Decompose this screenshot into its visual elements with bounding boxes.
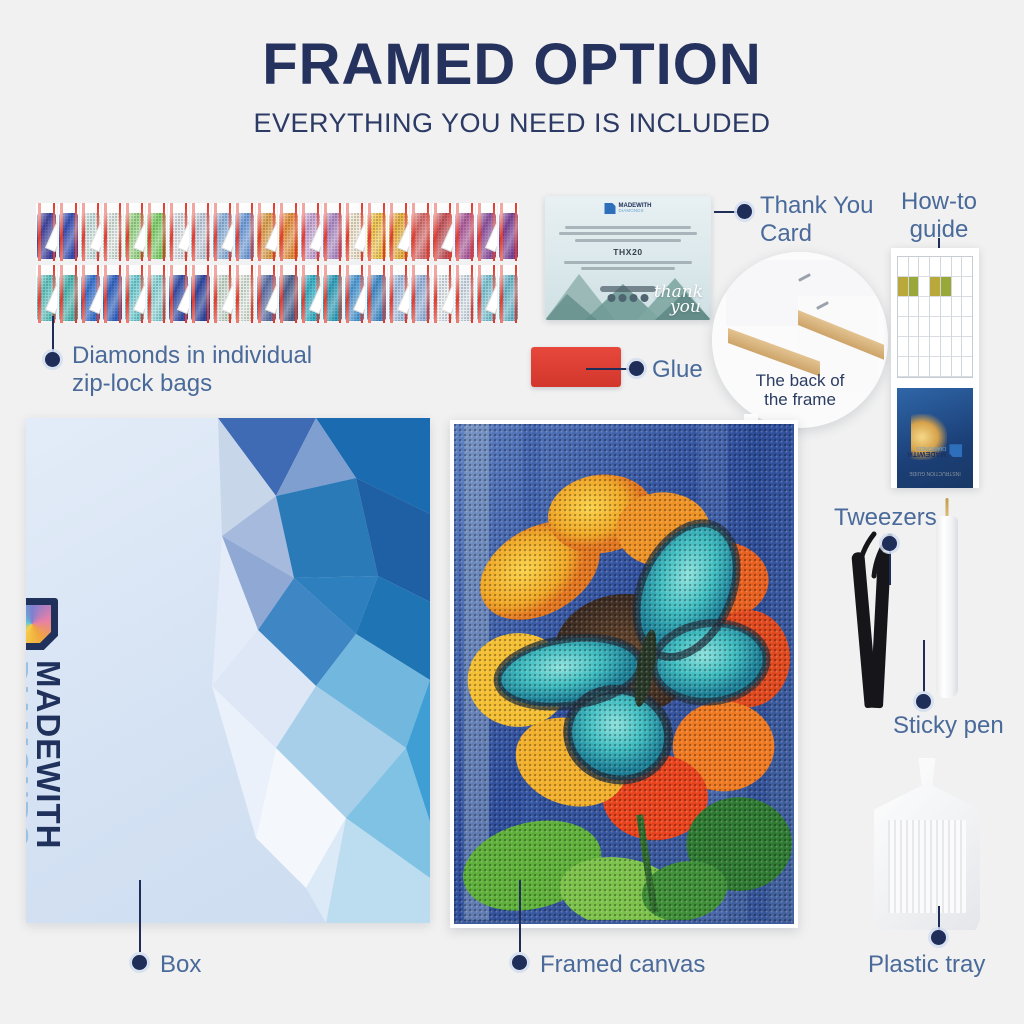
table-column xyxy=(930,257,941,377)
tweezers-dot xyxy=(882,536,897,551)
bag-sheen xyxy=(146,265,167,323)
tweezer-tips-icon xyxy=(852,530,912,580)
box-leader-line xyxy=(139,880,141,952)
bag-sheen xyxy=(80,203,101,261)
diamond-bag xyxy=(278,203,299,261)
diamond-bag xyxy=(168,203,189,261)
diamond-bag xyxy=(366,203,387,261)
callout-plastic-tray: Plastic tray xyxy=(868,951,985,979)
callout-thank-you-card: Thank You Card xyxy=(760,192,873,247)
bag-sheen xyxy=(168,265,189,323)
diamond-mark-icon xyxy=(26,598,58,650)
bag-sheen xyxy=(454,265,475,323)
callout-sticky-pen: Sticky pen xyxy=(893,712,1004,740)
bag-sheen xyxy=(278,265,299,323)
diamond-mark-icon xyxy=(605,203,616,214)
box-dot xyxy=(132,955,147,970)
sticky-pen-leader-line xyxy=(923,640,925,692)
bag-sheen xyxy=(102,203,123,261)
table-column xyxy=(952,257,963,377)
diamond-bag xyxy=(498,203,519,261)
framed-canvas xyxy=(450,420,798,928)
guide-caption: INSTRUCTION GUIDE xyxy=(909,470,960,476)
diamonds-leader-line xyxy=(52,316,54,352)
color-chart-table xyxy=(897,256,973,378)
diamond-bag xyxy=(234,265,255,323)
diamond-bag xyxy=(168,265,189,323)
diamond-mark-icon xyxy=(949,444,962,457)
guide-brand-wordmark: MADEWITH DIAMONDS xyxy=(908,444,947,457)
diamond-bag xyxy=(212,265,233,323)
canvas-dot xyxy=(512,955,527,970)
bag-sheen xyxy=(322,203,343,261)
tweezers xyxy=(852,530,912,710)
callout-how-to-guide: How-to guide xyxy=(893,188,985,243)
bag-sheen xyxy=(432,203,453,261)
diamond-bag xyxy=(256,265,277,323)
card-social-icons xyxy=(608,294,649,302)
bag-sheen xyxy=(322,265,343,323)
diamond-bag xyxy=(146,265,167,323)
table-column xyxy=(909,257,920,377)
tiktok-icon xyxy=(619,294,627,302)
tray-ribs xyxy=(888,820,966,913)
canvas-art-svg xyxy=(454,424,794,920)
diamond-bag-row-bottom xyxy=(36,265,519,323)
diamond-bag xyxy=(476,203,497,261)
product-box: MADEWITH DIAMONDS xyxy=(26,418,430,923)
box-brand-wordmark: MADEWITH DIAMONDS xyxy=(26,660,64,849)
frame-back-bubble: The back of the frame xyxy=(712,252,888,428)
diamond-bag-row-top xyxy=(36,203,519,261)
bag-sheen xyxy=(212,203,233,261)
bag-sheen xyxy=(124,265,145,323)
diamond-bag xyxy=(322,265,343,323)
pinterest-icon xyxy=(630,294,638,302)
how-to-guide-booklet: MADEWITH DIAMONDS INSTRUCTION GUIDE xyxy=(891,248,979,488)
box-polygon-pattern xyxy=(26,418,430,923)
diamond-bag xyxy=(410,203,431,261)
diamond-bag xyxy=(36,203,57,261)
diamond-bag xyxy=(80,265,101,323)
table-column xyxy=(941,257,952,377)
bag-sheen xyxy=(366,265,387,323)
table-column-headers xyxy=(962,257,972,377)
bag-sheen xyxy=(388,203,409,261)
diamond-bag xyxy=(58,203,79,261)
bag-sheen xyxy=(410,203,431,261)
bag-sheen xyxy=(102,265,123,323)
diamond-bag xyxy=(322,203,343,261)
bag-sheen xyxy=(454,203,475,261)
instagram-icon xyxy=(641,294,649,302)
diamond-bag xyxy=(80,203,101,261)
bag-sheen xyxy=(190,203,211,261)
glue-leader-line xyxy=(586,368,631,370)
bag-sheen xyxy=(300,265,321,323)
bag-sheen xyxy=(256,265,277,323)
card-thank-you-script: thank you xyxy=(654,285,703,314)
callout-glue: Glue xyxy=(652,356,703,384)
diamond-bag xyxy=(256,203,277,261)
glue-dot xyxy=(629,361,644,376)
diamond-bag xyxy=(124,265,145,323)
card-brand-wordmark: MADEWITH DIAMONDS xyxy=(619,203,652,213)
card-handle-bar xyxy=(600,286,656,292)
callout-box: Box xyxy=(160,951,201,979)
bag-sheen xyxy=(168,203,189,261)
pen-body xyxy=(936,516,958,698)
guide-brand-logo: MADEWITH DIAMONDS xyxy=(908,444,963,457)
diamond-bag xyxy=(366,265,387,323)
bag-sheen xyxy=(498,203,519,261)
page-subtitle: EVERYTHING YOU NEED IS INCLUDED xyxy=(0,108,1024,139)
diamond-bag xyxy=(498,265,519,323)
bag-sheen xyxy=(410,265,431,323)
thank-you-dot xyxy=(737,204,752,219)
card-promo-code: THX20 xyxy=(555,247,701,257)
diamond-bag xyxy=(124,203,145,261)
diamond-bag xyxy=(388,203,409,261)
diamond-bag xyxy=(58,265,79,323)
bag-sheen xyxy=(58,265,79,323)
thank-you-card: MADEWITH DIAMONDS THX20 thank you xyxy=(545,196,711,320)
diamond-bag xyxy=(190,203,211,261)
tray-dot xyxy=(931,930,946,945)
bag-sheen xyxy=(36,203,57,261)
bag-sheen xyxy=(432,265,453,323)
bag-sheen xyxy=(234,265,255,323)
page-title: FRAMED OPTION xyxy=(0,36,1024,94)
diamond-bag xyxy=(300,203,321,261)
facebook-icon xyxy=(608,294,616,302)
infographic-stage: FRAMED OPTION EVERYTHING YOU NEED IS INC… xyxy=(0,0,1024,1024)
table-column xyxy=(919,257,930,377)
bag-sheen xyxy=(212,265,233,323)
card-brand-logo: MADEWITH DIAMONDS xyxy=(605,203,652,214)
diamond-bag xyxy=(432,265,453,323)
diamond-bag xyxy=(410,265,431,323)
canvas-artwork xyxy=(454,424,794,924)
bag-sheen xyxy=(146,203,167,261)
diamond-bag xyxy=(344,265,365,323)
bag-sheen xyxy=(476,265,497,323)
bag-sheen xyxy=(190,265,211,323)
diamond-bag xyxy=(454,203,475,261)
bag-sheen xyxy=(80,265,101,323)
diamond-bag xyxy=(388,265,409,323)
sticky-pen-dot xyxy=(916,694,931,709)
bag-sheen xyxy=(36,265,57,323)
diamond-bag xyxy=(36,265,57,323)
card-message: THX20 xyxy=(555,222,701,274)
plastic-tray xyxy=(874,758,980,930)
diamond-bag xyxy=(432,203,453,261)
sticky-pen xyxy=(936,498,958,698)
bag-sheen xyxy=(388,265,409,323)
diamond-bag xyxy=(476,265,497,323)
bag-sheen xyxy=(278,203,299,261)
glue-container xyxy=(531,347,621,387)
bag-sheen xyxy=(366,203,387,261)
diamond-bag xyxy=(102,265,123,323)
bag-sheen xyxy=(344,203,365,261)
box-brand-logo: MADEWITH DIAMONDS xyxy=(26,598,64,849)
callout-diamonds: Diamonds in individual zip-lock bags xyxy=(72,342,312,397)
callout-framed-canvas: Framed canvas xyxy=(540,951,705,979)
diamond-bag xyxy=(146,203,167,261)
diamond-bag xyxy=(234,203,255,261)
diamond-bag xyxy=(212,203,233,261)
bag-sheen xyxy=(256,203,277,261)
callout-tweezers: Tweezers xyxy=(834,504,937,532)
diamond-bag xyxy=(344,203,365,261)
bag-sheen xyxy=(476,203,497,261)
bag-sheen xyxy=(344,265,365,323)
diamond-bag xyxy=(300,265,321,323)
bag-sheen xyxy=(300,203,321,261)
bag-sheen xyxy=(498,265,519,323)
diamond-bag xyxy=(278,265,299,323)
diamonds-dot xyxy=(45,352,60,367)
diamond-bag xyxy=(190,265,211,323)
tweezers-leader-line xyxy=(889,545,891,585)
bag-sheen xyxy=(234,203,255,261)
bag-sheen xyxy=(58,203,79,261)
diamond-bag xyxy=(102,203,123,261)
table-column xyxy=(898,257,909,377)
diamond-bag xyxy=(454,265,475,323)
bubble-caption: The back of the frame xyxy=(712,371,888,410)
bag-sheen xyxy=(124,203,145,261)
canvas-leader-line xyxy=(519,880,521,952)
